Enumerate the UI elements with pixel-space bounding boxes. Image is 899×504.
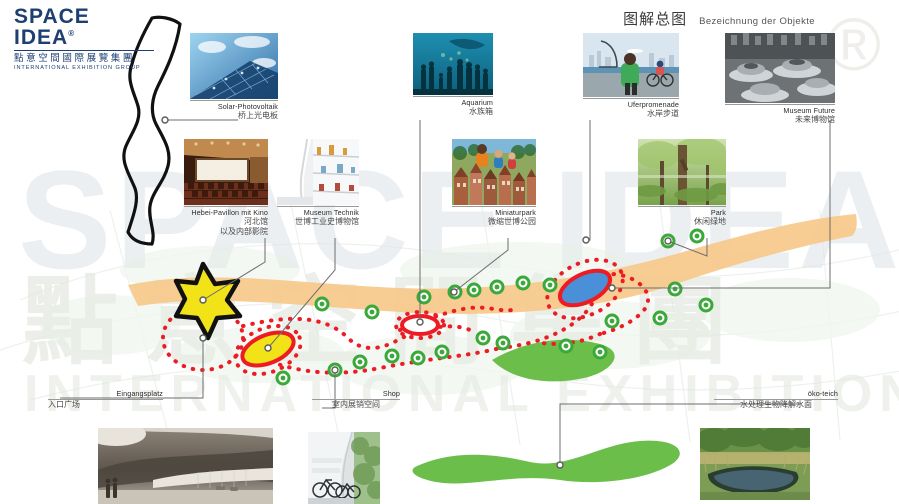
registered-trademark-icon: ® (68, 29, 75, 38)
legend-card-aquarium[interactable]: Aquarium 水族箱 (413, 33, 493, 117)
highlight-yellow-ellipse (238, 326, 299, 372)
highlight-blue-ellipse (555, 264, 616, 313)
legend-card-miniaturpark[interactable]: Miniaturpark 微缩世博公园 (452, 139, 536, 227)
entrance-star-marker (176, 264, 240, 338)
brand-name-text: SPACE IDEA (14, 5, 90, 49)
legend-card-shop-label-cn: 室内展销空间 (312, 400, 400, 410)
presentation-board: SPACE IDEA 點意空間集團 INTERNATIONAL EXHIBITI… (0, 0, 899, 504)
legend-card-museum-future[interactable]: Museum Future 未来博物馆 (725, 33, 835, 125)
legend-card-uferpromenade[interactable]: Uferpromenade 水岸步道 (583, 33, 679, 119)
indoor-shop-bicycles-render-photo (308, 432, 380, 504)
legend-card-solar-label-de: Solar-Photovoltaik (190, 102, 278, 111)
aquarium-visitors-silhouette-photo (413, 33, 493, 95)
legend-card-eingangsplatz[interactable]: Eingangsplatz 入口广场 (48, 388, 163, 410)
brand-logo[interactable]: SPACE IDEA® 點意空間國際展覽集團 INTERNATIONAL EXH… (14, 6, 154, 72)
photo-indoor-shop[interactable] (308, 432, 380, 504)
legend-card-oko-teich[interactable]: öko-teich 水处理生物降解水面 (714, 388, 838, 410)
legend-card-solar[interactable]: Solar-Photovoltaik 桥上光电板 (190, 33, 278, 121)
waterfront-promenade-cyclist-photo (583, 33, 679, 97)
board-title-german: Bezeichnung der Objekte (699, 16, 815, 27)
legend-card-aquarium-label-cn: 水族箱 (413, 107, 493, 117)
legend-card-museum-technik-label-de: Museum Technik (277, 208, 359, 217)
legend-card-solar-label-cn: 桥上光电板 (190, 111, 278, 121)
legend-card-hebei-label-cn-2: 以及内部影院 (184, 227, 268, 237)
cinema-auditorium-interior-photo (184, 139, 268, 205)
legend-card-oko-teich-label-de: öko-teich (714, 389, 838, 398)
brand-logo-chinese: 點意空間國際展覽集團 (14, 50, 154, 64)
green-water-blob (413, 441, 680, 484)
legend-card-museum-future-label-cn: 未来博物馆 (725, 115, 835, 125)
green-lawn-blob (492, 340, 615, 382)
legend-card-uferpromenade-label-cn: 水岸步道 (583, 109, 679, 119)
legend-card-hebei-label-cn-1: 河北馆 (184, 217, 268, 227)
legend-card-park-label-de: Park (638, 208, 726, 217)
legend-card-shop-label-de: Shop (312, 389, 400, 398)
photo-oko-teich[interactable] (700, 428, 810, 500)
futuristic-museum-vehicles-photo (725, 33, 835, 103)
legend-card-shop[interactable]: Shop 室内展销空间 (312, 388, 400, 410)
brand-logo-wordmark: SPACE IDEA® (14, 6, 154, 48)
legend-card-hebei-pavillon[interactable]: Hebei-Pavillon mit Kino 河北馆 以及内部影院 (184, 139, 268, 237)
entrance-plaza-canopy-render-photo (98, 428, 273, 504)
solar-photovoltaic-panels-sky-photo (190, 33, 278, 99)
legend-card-uferpromenade-label-de: Uferpromenade (583, 100, 679, 109)
green-tree-markers (277, 230, 712, 384)
legend-card-park-label-cn: 休闲绿地 (638, 217, 726, 227)
photo-entrance-plaza[interactable] (98, 428, 273, 504)
board-title: 图解总图 Bezeichnung der Objekte (623, 8, 815, 29)
miniature-park-model-houses-photo (452, 139, 536, 205)
brand-logo-subtitle: INTERNATIONAL EXHIBITION GROUP (14, 65, 154, 72)
legend-card-hebei-label-de: Hebei-Pavillon mit Kino (184, 208, 268, 217)
highlight-red-ring (402, 316, 438, 334)
legend-card-museum-technik[interactable]: Museum Technik 世博工业史博物馆 (277, 139, 359, 227)
legend-card-museum-future-label-de: Museum Future (725, 106, 835, 115)
watermark-line-2: 點意空間集團 (22, 275, 754, 371)
legend-card-eingangsplatz-label-de: Eingangsplatz (48, 389, 163, 398)
legend-card-eingangsplatz-label-cn: 入口广场 (48, 400, 163, 410)
red-dotted-circulation-route (163, 248, 648, 383)
green-park-trees-lawn-photo (638, 139, 726, 205)
ecological-pond-reeds-photo (700, 428, 810, 500)
legend-card-miniaturpark-label-de: Miniaturpark (452, 208, 536, 217)
legend-card-park[interactable]: Park 休闲绿地 (638, 139, 726, 227)
legend-card-oko-teich-label-cn: 水处理生物降解水面 (714, 400, 838, 410)
legend-card-aquarium-label-de: Aquarium (413, 98, 493, 107)
legend-card-museum-technik-label-cn: 世博工业史博物馆 (277, 217, 359, 227)
white-museum-gallery-exhibits-photo (277, 139, 359, 205)
board-title-chinese: 图解总图 (623, 8, 687, 29)
legend-card-miniaturpark-label-cn: 微缩世博公园 (452, 217, 536, 227)
